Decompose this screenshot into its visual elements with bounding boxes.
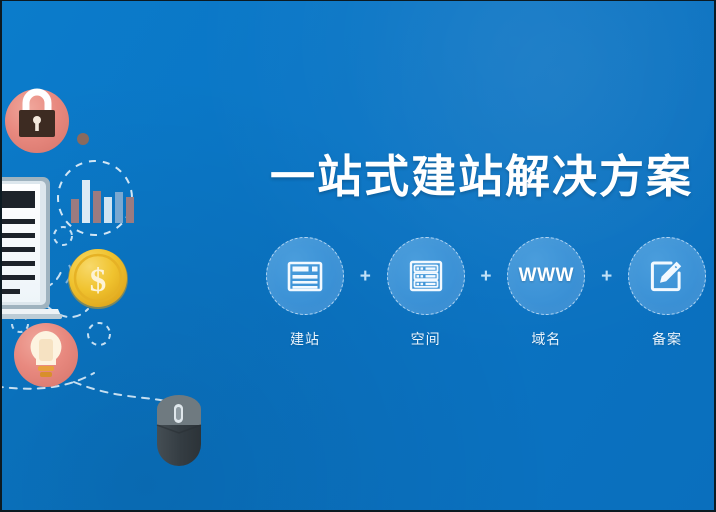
feature-list: 建站 + bbox=[266, 237, 706, 357]
feature-label: 建站 bbox=[290, 329, 320, 349]
feature-icon-circle[interactable] bbox=[387, 237, 465, 315]
bar-chart-icon bbox=[71, 180, 134, 223]
svg-text:$: $ bbox=[90, 263, 107, 299]
feature-item-website-build[interactable]: 建站 bbox=[266, 237, 344, 349]
feature-icon-circle[interactable]: WWW bbox=[507, 237, 585, 315]
promo-banner: $ 一站式建站解决方案 bbox=[0, 0, 716, 512]
computer-mouse-icon bbox=[157, 395, 201, 466]
feature-icon-circle[interactable] bbox=[628, 237, 706, 315]
browser-page-icon bbox=[286, 257, 324, 295]
feature-separator: + bbox=[354, 267, 376, 286]
feature-item-hosting-space[interactable]: 空间 bbox=[387, 237, 465, 349]
small-dot bbox=[77, 133, 89, 145]
dashed-loop-small bbox=[88, 323, 110, 345]
illustration-group: $ bbox=[2, 1, 262, 512]
page-title: 一站式建站解决方案 bbox=[270, 153, 710, 200]
feature-separator: + bbox=[475, 267, 497, 286]
dollar-coin-icon: $ bbox=[68, 249, 128, 309]
www-text-icon: WWW bbox=[519, 265, 574, 287]
feature-label: 空间 bbox=[411, 329, 441, 349]
padlock-badge-icon bbox=[5, 89, 69, 153]
feature-label: 域名 bbox=[531, 329, 561, 349]
dashed-loop-small bbox=[54, 227, 72, 245]
server-rack-icon bbox=[407, 257, 445, 295]
feature-icon-circle[interactable] bbox=[266, 237, 344, 315]
edit-square-pencil-icon bbox=[648, 257, 686, 295]
laptop-document-icon bbox=[2, 177, 62, 319]
feature-separator: + bbox=[596, 267, 618, 286]
feature-label: 备案 bbox=[652, 329, 682, 349]
feature-item-domain-name[interactable]: WWW 域名 bbox=[507, 237, 585, 349]
feature-item-icp-filing[interactable]: 备案 bbox=[628, 237, 706, 349]
lightbulb-badge-icon bbox=[14, 323, 78, 387]
